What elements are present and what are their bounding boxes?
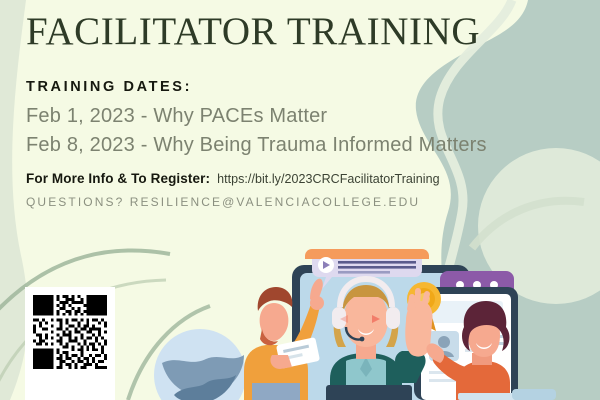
globe-icon (154, 329, 246, 400)
date-line-1: Feb 1, 2023 - Why PACEs Matter (26, 105, 600, 128)
page-title: FACILITATOR TRAINING (0, 0, 600, 51)
woman-with-headset (326, 279, 433, 400)
register-row: For More Info & To Register: https://bit… (26, 171, 600, 186)
flyer-canvas: FACILITATOR TRAINING TRAINING DATES: Feb… (0, 0, 600, 400)
training-dates-label: TRAINING DATES: (26, 79, 600, 95)
register-label: For More Info & To Register: (26, 171, 210, 186)
questions-email-line[interactable]: QUESTIONS? RESILIENCE@VALENCIACOLLEGE.ED… (26, 195, 600, 209)
illustration-svg (140, 243, 600, 400)
desk-surface (512, 389, 556, 400)
register-link[interactable]: https://bit.ly/2023CRCFacilitatorTrainin… (217, 172, 440, 186)
desk-edge (458, 393, 516, 400)
qr-code[interactable] (33, 295, 107, 369)
qr-code-card[interactable] (25, 287, 115, 400)
date-line-2: Feb 8, 2023 - Why Being Trauma Informed … (26, 134, 600, 157)
open-laptop-base (326, 385, 412, 400)
text-content: FACILITATOR TRAINING TRAINING DATES: Feb… (0, 0, 600, 209)
online-training-illustration (140, 243, 600, 400)
